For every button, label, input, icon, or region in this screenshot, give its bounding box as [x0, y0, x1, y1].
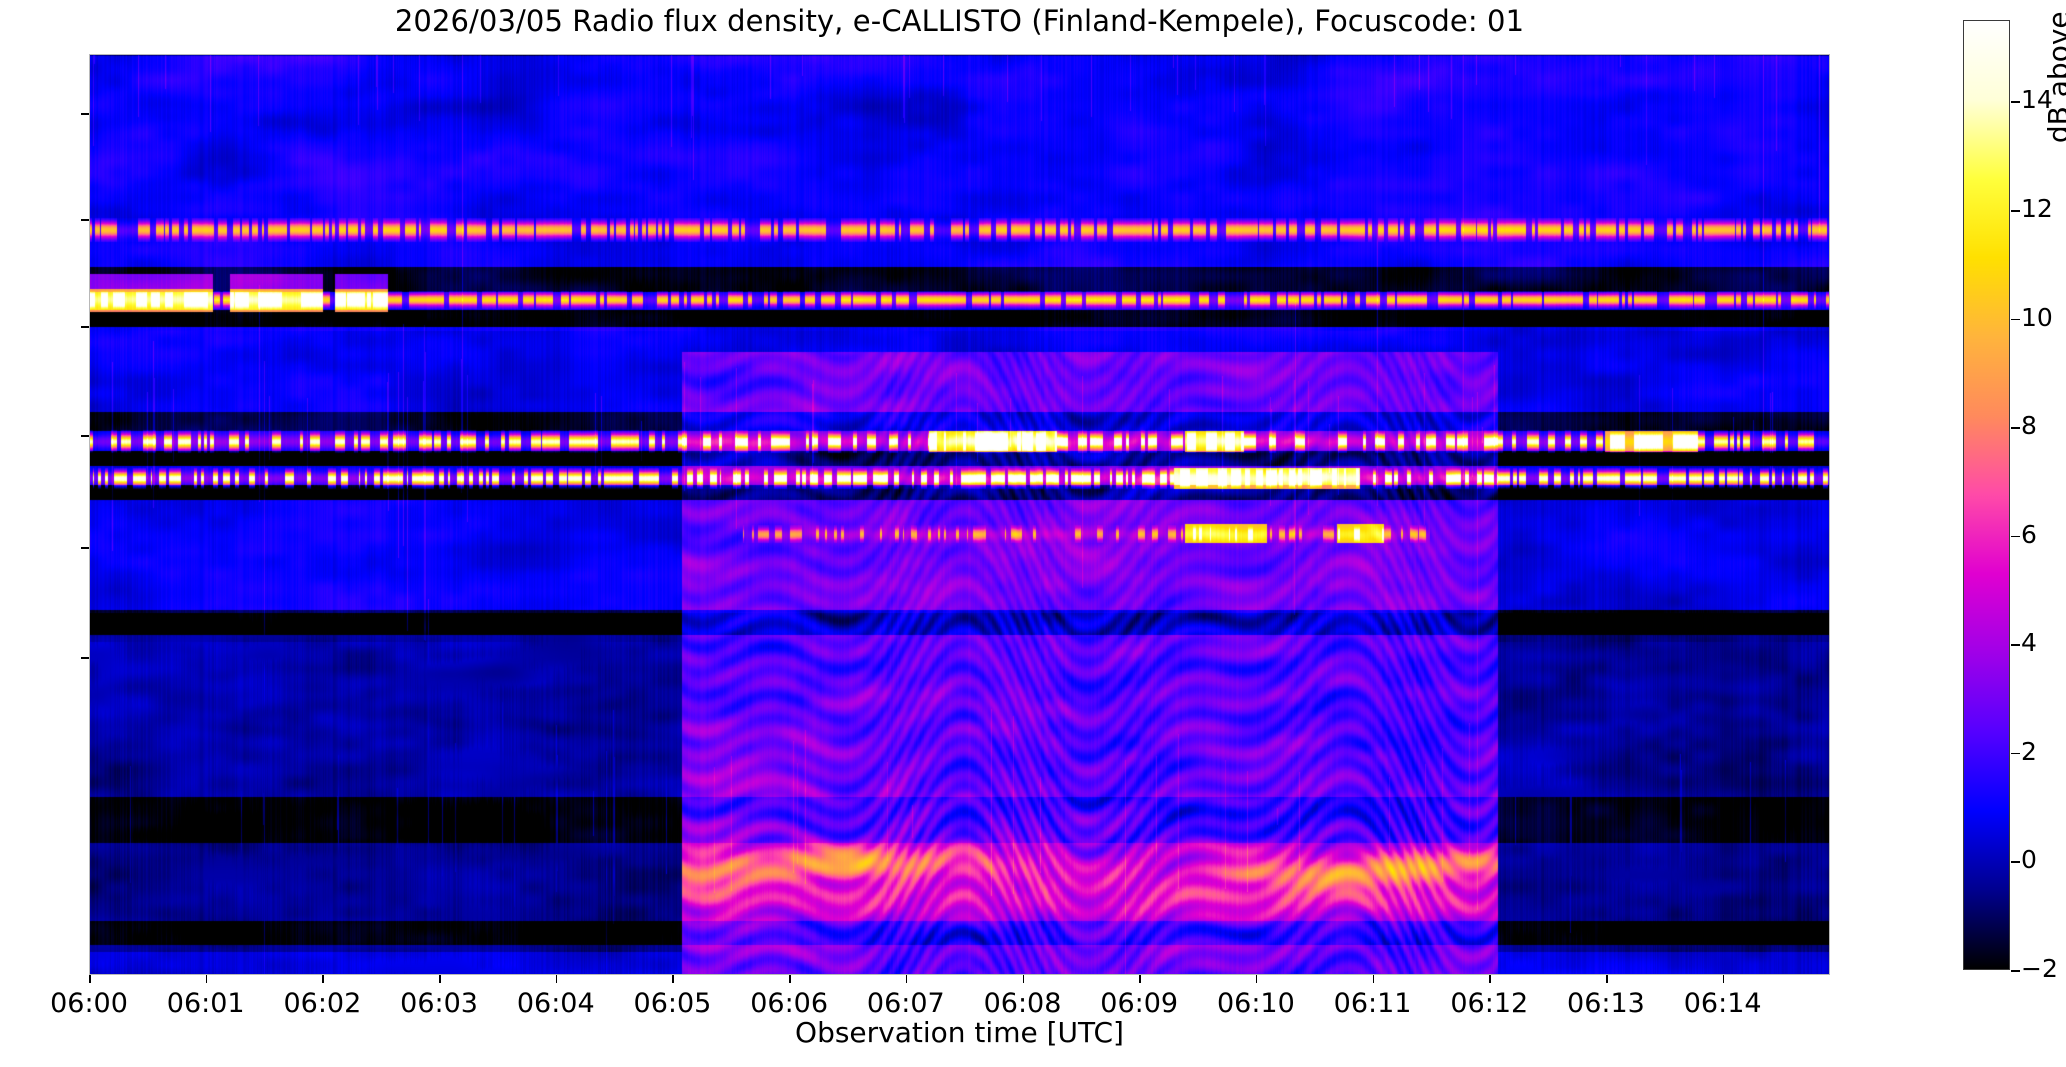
y-tick-mark: [81, 547, 89, 549]
colorbar-tick-mark: [2011, 536, 2020, 538]
x-tick-mark: [1606, 975, 1608, 983]
spectrogram-canvas: [90, 55, 1829, 974]
colorbar-tick-label-10: 10: [2021, 303, 2053, 332]
x-tick-mark: [1023, 975, 1025, 983]
colorbar-tick-mark: [2011, 970, 2020, 972]
y-tick-mark: [81, 435, 89, 437]
x-tick-mark: [906, 975, 908, 983]
page-title: 2026/03/05 Radio flux density, e-CALLIST…: [89, 4, 1830, 38]
spectrogram-image: [90, 55, 1829, 974]
colorbar-tick-mark: [2011, 753, 2020, 755]
x-tick-mark: [1723, 975, 1725, 983]
colorbar-tick-label-8: 8: [2021, 411, 2037, 440]
x-tick-mark: [1373, 975, 1375, 983]
x-tick-mark: [556, 975, 558, 983]
colorbar-tick-mark: [2011, 644, 2020, 646]
colorbar-tick-mark: [2011, 427, 2020, 429]
x-tick-label-06-14: 06:14: [1643, 988, 1803, 1019]
colorbar-tick-label-neg2: −2: [2021, 954, 2058, 983]
colorbar-tick-mark: [2011, 319, 2020, 321]
colorbar-tick-label-6: 6: [2021, 520, 2037, 549]
colorbar-tick-mark: [2011, 861, 2020, 863]
y-tick-mark: [81, 657, 89, 659]
colorbar-tick-label-2: 2: [2021, 737, 2037, 766]
x-axis-label: Observation time [UTC]: [89, 1016, 1830, 1049]
x-tick-mark: [439, 975, 441, 983]
x-tick-mark: [89, 975, 91, 983]
colorbar-tick-label-4: 4: [2021, 628, 2037, 657]
y-tick-mark: [81, 219, 89, 221]
colorbar-gradient: [1964, 21, 2009, 969]
x-tick-mark: [322, 975, 324, 983]
colorbar-tick-label-0: 0: [2021, 845, 2037, 874]
x-tick-mark: [1489, 975, 1491, 983]
x-tick-mark: [1139, 975, 1141, 983]
x-tick-mark: [206, 975, 208, 983]
colorbar: [1963, 20, 2010, 970]
y-tick-mark: [81, 326, 89, 328]
colorbar-label: dB above background: [2042, 0, 2066, 250]
colorbar-tick-mark: [2011, 101, 2020, 103]
spectrogram-plot-area: [89, 54, 1830, 975]
y-tick-mark: [81, 113, 89, 115]
x-tick-mark: [672, 975, 674, 983]
x-tick-mark: [789, 975, 791, 983]
colorbar-tick-mark: [2011, 210, 2020, 212]
x-tick-mark: [1256, 975, 1258, 983]
